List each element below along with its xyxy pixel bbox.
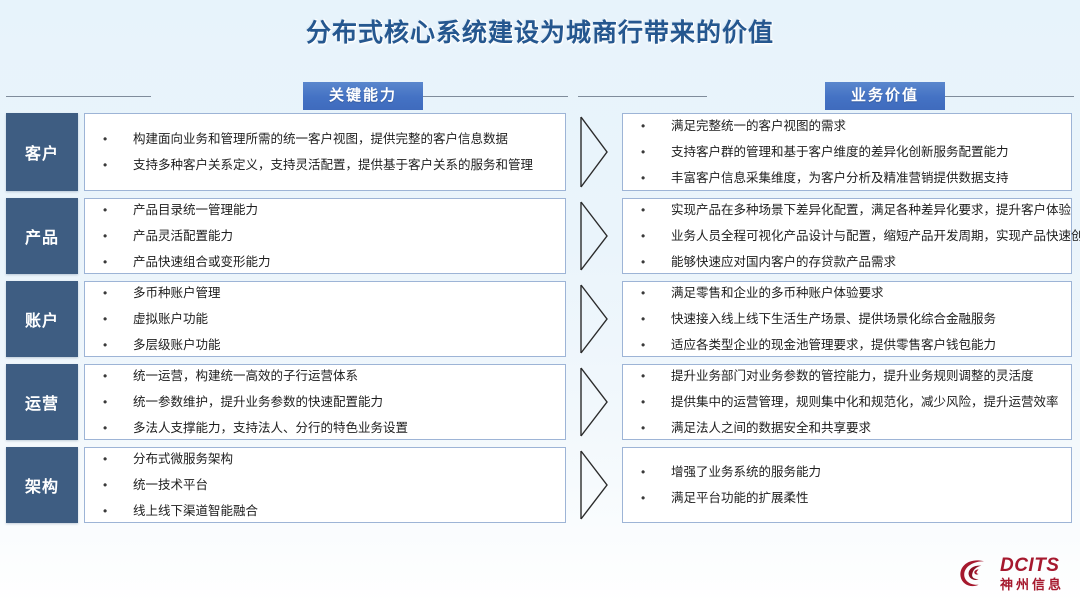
list-item: 支持客户群的管理和基于客户维度的差异化创新服务配置能力 bbox=[633, 139, 1059, 165]
list-item: 虚拟账户功能 bbox=[95, 306, 553, 332]
list-item: 满足平台功能的扩展柔性 bbox=[633, 485, 1059, 511]
value-list: 满足完整统一的客户视图的需求 支持客户群的管理和基于客户维度的差异化创新服务配置… bbox=[633, 113, 1059, 191]
row-label-product: 产品 bbox=[6, 198, 78, 274]
column-header-values: 业务价值 bbox=[578, 82, 1074, 110]
value-list: 提升业务部门对业务参数的管控能力，提升业务规则调整的灵活度 提供集中的运营管理，… bbox=[633, 363, 1059, 441]
capabilities-badge: 关键能力 bbox=[303, 82, 423, 110]
logo-name-en: DCITS bbox=[1000, 556, 1064, 575]
list-item: 多层级账户功能 bbox=[95, 332, 553, 358]
list-item: 适应各类型企业的现金池管理要求，提供零售客户钱包能力 bbox=[633, 332, 1059, 358]
list-item: 多币种账户管理 bbox=[95, 280, 553, 306]
value-list: 满足零售和企业的多币种账户体验要求 快速接入线上线下生活生产场景、提供场景化综合… bbox=[633, 280, 1059, 358]
list-item: 多法人支撑能力，支持法人、分行的特色业务设置 bbox=[95, 415, 553, 441]
values-badge: 业务价值 bbox=[825, 82, 945, 110]
list-item: 能够快速应对国内客户的存贷款产品需求 bbox=[633, 249, 1059, 275]
list-item: 线上线下渠道智能融合 bbox=[95, 498, 553, 524]
column-headers: 关键能力 业务价值 bbox=[0, 82, 1080, 112]
list-item: 丰富客户信息采集维度，为客户分析及精准营销提供数据支持 bbox=[633, 165, 1059, 191]
header-rule-left bbox=[6, 96, 151, 97]
list-item: 增强了业务系统的服务能力 bbox=[633, 459, 1059, 485]
table-row: 客户 构建面向业务和管理所需的统一客户视图，提供完整的客户信息数据 支持多种客户… bbox=[0, 113, 1080, 191]
chevron-right-icon bbox=[577, 115, 611, 189]
table-row: 产品 产品目录统一管理能力 产品灵活配置能力 产品快速组合或变形能力 实现产品在… bbox=[0, 198, 1080, 274]
values-box-customer: 满足完整统一的客户视图的需求 支持客户群的管理和基于客户维度的差异化创新服务配置… bbox=[622, 113, 1072, 191]
capabilities-box-operations: 统一运营，构建统一高效的子行运营体系 统一参数维护，提升业务参数的快速配置能力 … bbox=[84, 364, 566, 440]
dcits-swoosh-icon bbox=[957, 555, 993, 591]
list-item: 支持多种客户关系定义，支持灵活配置，提供基于客户关系的服务和管理 bbox=[95, 152, 553, 178]
list-item: 分布式微服务架构 bbox=[95, 446, 553, 472]
row-label-operations: 运营 bbox=[6, 364, 78, 440]
arrow-cell bbox=[566, 113, 622, 191]
arrow-cell bbox=[566, 281, 622, 357]
capability-list: 统一运营，构建统一高效的子行运营体系 统一参数维护，提升业务参数的快速配置能力 … bbox=[95, 363, 553, 441]
arrow-cell bbox=[566, 198, 622, 274]
list-item: 业务人员全程可视化产品设计与配置，缩短产品开发周期，实现产品快速创新 bbox=[633, 223, 1059, 249]
capabilities-box-customer: 构建面向业务和管理所需的统一客户视图，提供完整的客户信息数据 支持多种客户关系定… bbox=[84, 113, 566, 191]
header-rule-right bbox=[945, 96, 1074, 97]
list-item: 满足零售和企业的多币种账户体验要求 bbox=[633, 280, 1059, 306]
list-item: 满足法人之间的数据安全和共享要求 bbox=[633, 415, 1059, 441]
list-item: 产品目录统一管理能力 bbox=[95, 197, 553, 223]
list-item: 统一参数维护，提升业务参数的快速配置能力 bbox=[95, 389, 553, 415]
page-title: 分布式核心系统建设为城商行带来的价值 bbox=[306, 13, 774, 49]
list-item: 统一技术平台 bbox=[95, 472, 553, 498]
chevron-right-icon bbox=[577, 200, 611, 272]
chevron-right-icon bbox=[577, 283, 611, 355]
slide-root: 分布式核心系统建设为城商行带来的价值 关键能力 业务价值 客户 构建面向业务和管… bbox=[0, 0, 1080, 605]
title-bar: 分布式核心系统建设为城商行带来的价值 bbox=[0, 0, 1080, 62]
header-rule-right bbox=[423, 96, 568, 97]
logo-name-cn: 神州信息 bbox=[1000, 578, 1064, 591]
value-list: 增强了业务系统的服务能力 满足平台功能的扩展柔性 bbox=[633, 459, 1059, 511]
capability-list: 分布式微服务架构 统一技术平台 线上线下渠道智能融合 bbox=[95, 446, 553, 524]
row-label-account: 账户 bbox=[6, 281, 78, 357]
list-item: 快速接入线上线下生活生产场景、提供场景化综合金融服务 bbox=[633, 306, 1059, 332]
list-item: 满足完整统一的客户视图的需求 bbox=[633, 113, 1059, 139]
list-item: 产品快速组合或变形能力 bbox=[95, 249, 553, 275]
table-row: 运营 统一运营，构建统一高效的子行运营体系 统一参数维护，提升业务参数的快速配置… bbox=[0, 364, 1080, 440]
capability-list: 构建面向业务和管理所需的统一客户视图，提供完整的客户信息数据 支持多种客户关系定… bbox=[95, 126, 553, 178]
table-row: 架构 分布式微服务架构 统一技术平台 线上线下渠道智能融合 增强了业务系统的服务… bbox=[0, 447, 1080, 523]
list-item: 构建面向业务和管理所需的统一客户视图，提供完整的客户信息数据 bbox=[95, 126, 553, 152]
capability-list: 多币种账户管理 虚拟账户功能 多层级账户功能 bbox=[95, 280, 553, 358]
values-box-account: 满足零售和企业的多币种账户体验要求 快速接入线上线下生活生产场景、提供场景化综合… bbox=[622, 281, 1072, 357]
row-label-architecture: 架构 bbox=[6, 447, 78, 523]
table-row: 账户 多币种账户管理 虚拟账户功能 多层级账户功能 满足零售和企业的多币种账户体… bbox=[0, 281, 1080, 357]
brand-logo: DCITS 神州信息 bbox=[957, 555, 1064, 591]
arrow-cell bbox=[566, 447, 622, 523]
list-item: 统一运营，构建统一高效的子行运营体系 bbox=[95, 363, 553, 389]
list-item: 产品灵活配置能力 bbox=[95, 223, 553, 249]
logo-text: DCITS 神州信息 bbox=[1000, 556, 1064, 591]
values-box-architecture: 增强了业务系统的服务能力 满足平台功能的扩展柔性 bbox=[622, 447, 1072, 523]
arrow-cell bbox=[566, 364, 622, 440]
header-rule-left bbox=[578, 96, 707, 97]
list-item: 提升业务部门对业务参数的管控能力，提升业务规则调整的灵活度 bbox=[633, 363, 1059, 389]
list-item: 提供集中的运营管理，规则集中化和规范化，减少风险，提升运营效率 bbox=[633, 389, 1059, 415]
column-header-capabilities: 关键能力 bbox=[6, 82, 568, 110]
capabilities-box-account: 多币种账户管理 虚拟账户功能 多层级账户功能 bbox=[84, 281, 566, 357]
capabilities-box-product: 产品目录统一管理能力 产品灵活配置能力 产品快速组合或变形能力 bbox=[84, 198, 566, 274]
capabilities-box-architecture: 分布式微服务架构 统一技术平台 线上线下渠道智能融合 bbox=[84, 447, 566, 523]
chevron-right-icon bbox=[577, 366, 611, 438]
values-box-operations: 提升业务部门对业务参数的管控能力，提升业务规则调整的灵活度 提供集中的运营管理，… bbox=[622, 364, 1072, 440]
capability-list: 产品目录统一管理能力 产品灵活配置能力 产品快速组合或变形能力 bbox=[95, 197, 553, 275]
values-box-product: 实现产品在多种场景下差异化配置，满足各种差异化要求，提升客户体验 业务人员全程可… bbox=[622, 198, 1072, 274]
row-label-customer: 客户 bbox=[6, 113, 78, 191]
list-item: 实现产品在多种场景下差异化配置，满足各种差异化要求，提升客户体验 bbox=[633, 197, 1059, 223]
rows-container: 客户 构建面向业务和管理所需的统一客户视图，提供完整的客户信息数据 支持多种客户… bbox=[0, 113, 1080, 530]
chevron-right-icon bbox=[577, 449, 611, 521]
value-list: 实现产品在多种场景下差异化配置，满足各种差异化要求，提升客户体验 业务人员全程可… bbox=[633, 197, 1059, 275]
